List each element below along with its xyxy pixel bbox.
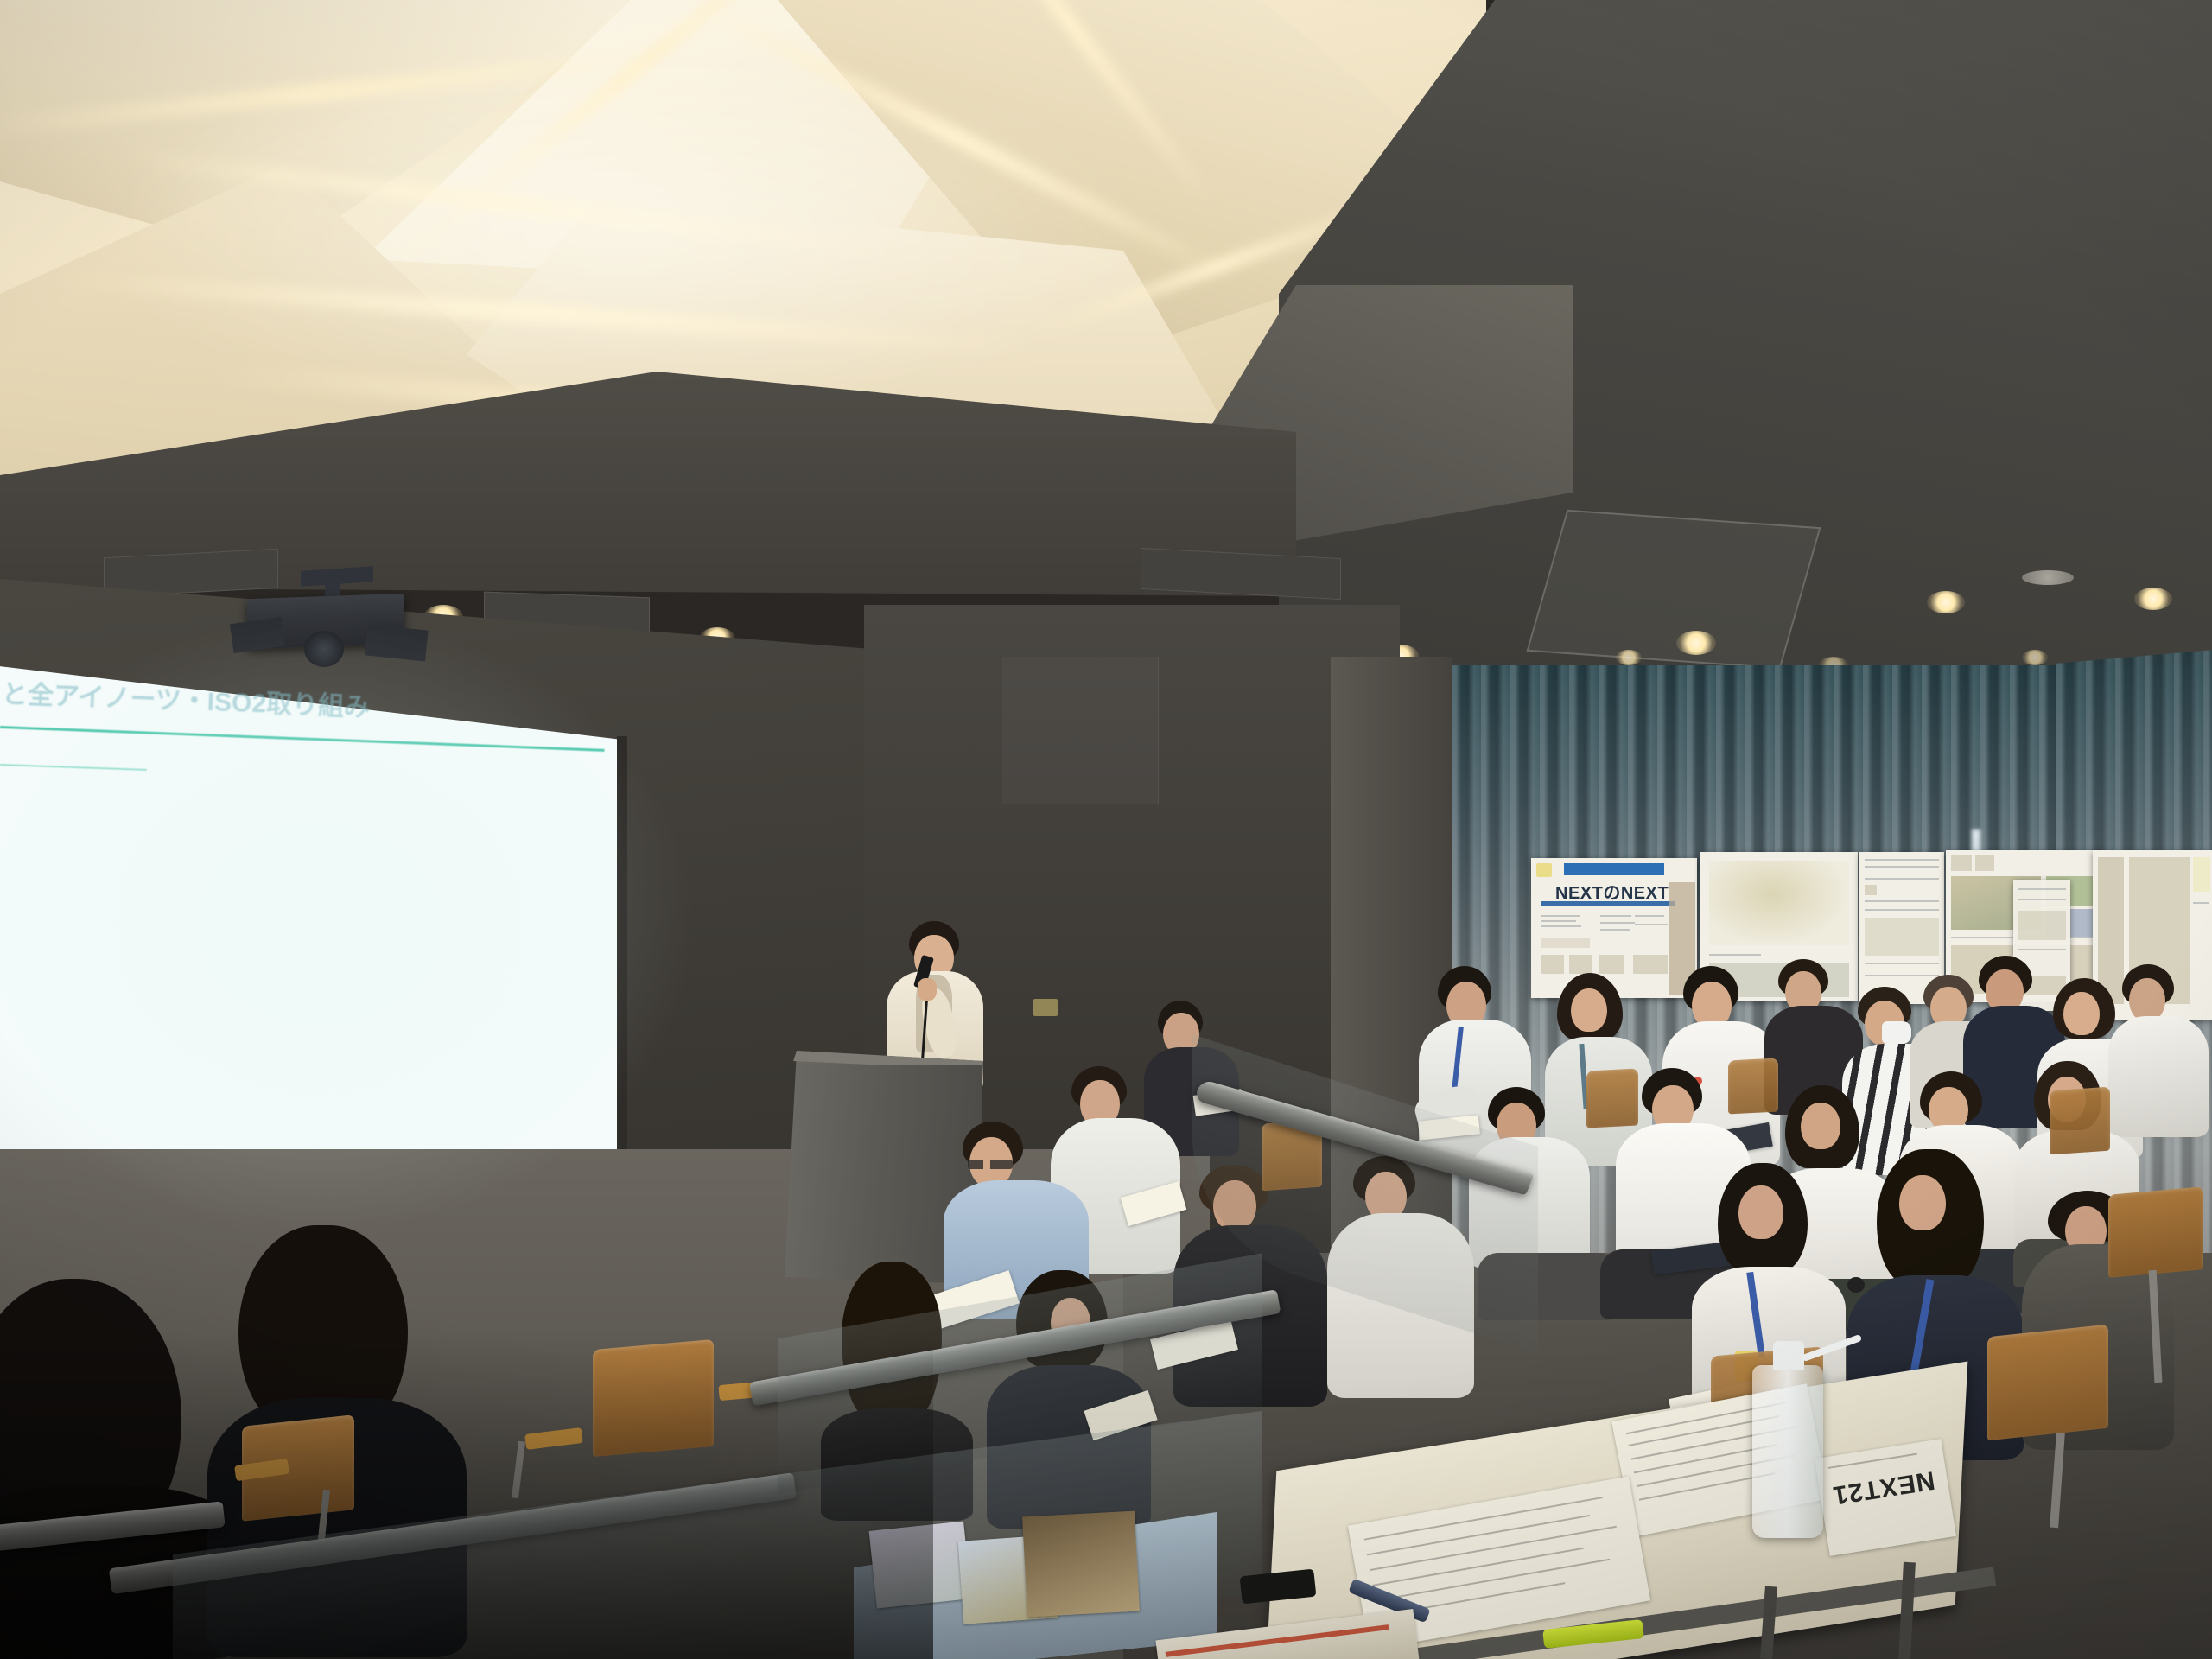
poster-textline [1541,915,1580,917]
downlight-6 [2134,588,2172,610]
brochure-1 [869,1521,972,1608]
poster-textline [1865,909,1939,911]
poster-banner [1564,863,1664,875]
head [2063,992,2100,1035]
head [1571,988,1607,1032]
head [1899,1175,1946,1230]
poster-highlight [2193,857,2210,892]
poster-diagram [1865,918,1939,956]
projection-screen [0,665,622,1166]
ceiling-vent-far-right [1526,510,1821,670]
poster-image-thumb [1975,855,1994,871]
downlight-8 [2022,650,2048,665]
wall-panel-seam [1002,657,1159,804]
poster-textline [2193,902,2209,904]
sheet-textline [1828,1453,1917,1469]
hand-sanitizer-bottle [1752,1365,1823,1538]
poster-image-thumb [1569,955,1592,974]
table-sheet-next21: NEXT21 [1815,1439,1956,1556]
chair-back-7 [2108,1186,2203,1278]
poster-textline [1541,920,1576,922]
poster-siteplan-drawing [1709,861,1849,945]
downlight-4 [1676,631,1716,655]
head [1738,1185,1783,1239]
document-textline [1372,1548,1584,1586]
speaker-hand [918,978,937,1001]
chair-back-5 [1728,1058,1778,1114]
poster-rule [1541,901,1675,906]
poster-image-thumb [1951,855,1972,871]
downlight-7 [1616,650,1642,665]
poster-textline [2018,949,2066,950]
poster-image-thumb [1599,955,1624,974]
brochure-3 [1022,1511,1140,1618]
poster-textline [1865,963,1939,964]
ceiling-glow [104,52,1141,415]
head [2129,978,2165,1021]
poster-image-thumb [1541,955,1564,974]
poster-textline [1865,878,1939,880]
chair-back-6 [2050,1087,2110,1155]
downlight-5 [1927,591,1965,613]
projector-lens-icon [304,631,344,667]
poster-textline [1600,922,1635,924]
poster-textline [1865,859,1939,861]
poster-textline [2018,899,2066,900]
hair [238,1225,408,1424]
poster-textline [1635,915,1664,917]
poster-textline [1709,954,1761,956]
poster-textline [2018,888,2066,890]
chair-back-4 [1586,1068,1638,1128]
poster-diagram [2018,911,2066,940]
poster-textline [1600,915,1631,917]
wall-sign-plate [1033,999,1058,1016]
poster-textline [1865,900,1939,902]
projector-mount-arm [325,577,340,598]
poster-iconrow [1541,938,1590,948]
poster-textline [1541,925,1581,927]
poster-title: NEXTのNEXT [1555,879,1669,904]
poster-textline [1635,924,1668,925]
poster-anniversary-badge [1536,863,1552,877]
head [1801,1103,1840,1149]
poster-image-thumb [1865,885,1877,895]
next21-label: NEXT21 [1830,1465,1936,1510]
head [1865,1001,1904,1046]
photo-scene: と全アイノーツ・ISO2取り組み NEXTのNEXT [0,0,2212,1659]
sprinkler-2 [2022,570,2074,585]
chair-back-8 [1987,1325,2108,1441]
chair-back-1 [593,1339,714,1457]
poster-textline [1600,929,1630,931]
poster-textline [1865,866,1939,868]
